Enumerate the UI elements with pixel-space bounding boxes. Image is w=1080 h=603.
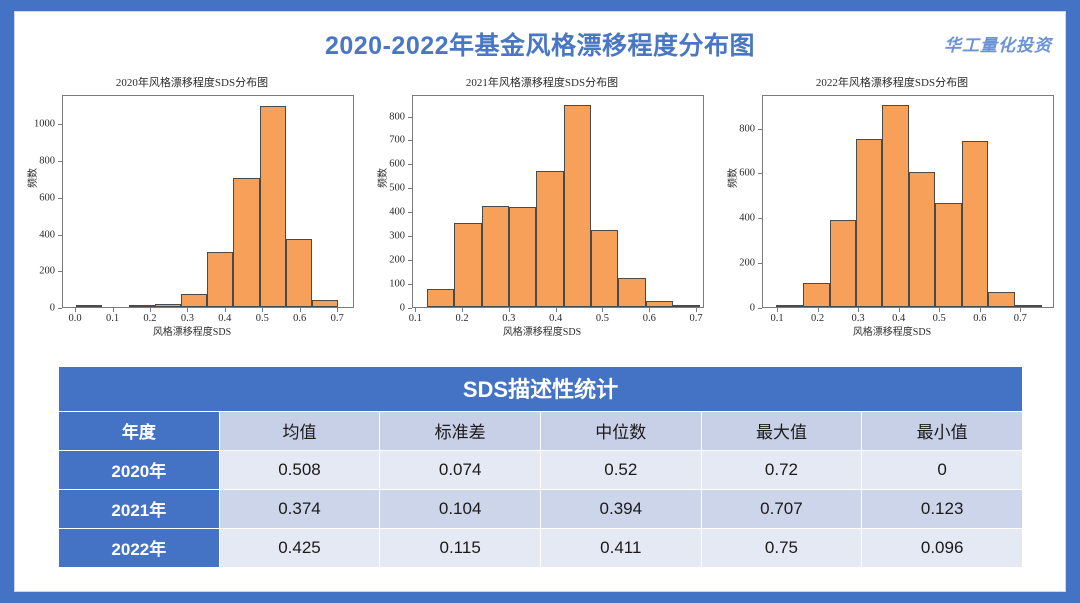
table-row: 2020年 0.508 0.074 0.52 0.72 0 — [59, 451, 1023, 490]
y-tick-label: 600 — [389, 159, 405, 170]
y-tick-mark — [58, 235, 62, 236]
y-tick-mark — [408, 188, 412, 189]
x-axis-label: 风格漂移程度SDS — [372, 323, 712, 338]
x-tick-mark — [187, 308, 188, 312]
y-tick-mark — [58, 308, 62, 309]
cell-year: 2020年 — [59, 451, 220, 490]
histogram-bar — [509, 207, 536, 307]
x-tick-mark — [150, 308, 151, 312]
y-tick-mark — [58, 161, 62, 162]
y-tick-label: 300 — [389, 231, 405, 242]
y-tick-label: 600 — [739, 168, 755, 179]
histogram-bar — [233, 178, 259, 307]
column-header-mean: 均值 — [219, 412, 380, 451]
histogram-bar — [76, 305, 102, 307]
y-axis-label: 频数 — [374, 168, 389, 188]
y-tick-mark — [758, 129, 762, 130]
cell-min: 0 — [862, 451, 1023, 490]
cell-mean: 0.374 — [219, 490, 380, 529]
y-tick-label: 0 — [50, 303, 55, 314]
y-tick-label: 200 — [389, 255, 405, 266]
histogram-bar — [988, 292, 1014, 307]
y-tick-label: 800 — [739, 123, 755, 134]
histogram-bar — [1015, 305, 1042, 307]
histogram-bars — [413, 96, 703, 307]
y-tick-label: 0 — [750, 303, 755, 314]
y-tick-label: 400 — [389, 207, 405, 218]
chart-panel-2022: 2022年风格漂移程度SDS分布图 频数 02004006008000.10.2… — [722, 70, 1062, 350]
table-header-row: 年度 均值 标准差 中位数 最大值 最小值 — [59, 412, 1023, 451]
histogram-bar — [260, 106, 286, 307]
x-tick-mark — [262, 308, 263, 312]
x-tick-mark — [556, 308, 557, 312]
histogram-bar — [564, 105, 591, 307]
cell-mean: 0.508 — [219, 451, 380, 490]
slide-border-left — [0, 0, 14, 603]
x-tick-mark — [509, 308, 510, 312]
chart-panel-2020: 2020年风格漂移程度SDS分布图 频数 020040060080010000.… — [22, 70, 362, 350]
histogram-bar — [181, 294, 207, 307]
y-tick-label: 200 — [739, 258, 755, 269]
page-title: 2020-2022年基金风格漂移程度分布图 — [0, 26, 1080, 62]
slide-border-right — [1066, 0, 1080, 603]
y-tick-label: 400 — [739, 213, 755, 224]
y-tick-mark — [408, 260, 412, 261]
x-tick-mark — [696, 308, 697, 312]
cell-std: 0.104 — [380, 490, 541, 529]
cell-year: 2021年 — [59, 490, 220, 529]
cell-min: 0.096 — [862, 529, 1023, 568]
column-header-min: 最小值 — [862, 412, 1023, 451]
y-tick-label: 1000 — [34, 119, 55, 130]
histogram-bar — [776, 305, 802, 307]
table-row: 2021年 0.374 0.104 0.394 0.707 0.123 — [59, 490, 1023, 529]
y-tick-label: 0 — [400, 303, 405, 314]
slide-border-top — [0, 0, 1080, 11]
chart-title: 2020年风格漂移程度SDS分布图 — [22, 74, 362, 90]
x-tick-mark — [777, 308, 778, 312]
x-tick-mark — [225, 308, 226, 312]
y-tick-label: 400 — [39, 229, 55, 240]
histogram-bar — [207, 252, 233, 307]
table-row: 2022年 0.425 0.115 0.411 0.75 0.096 — [59, 529, 1023, 568]
x-tick-mark — [899, 308, 900, 312]
histogram-bar — [312, 300, 338, 307]
chart-panel-2021: 2021年风格漂移程度SDS分布图 频数 0100200300400500600… — [372, 70, 712, 350]
plot-axes — [762, 95, 1054, 308]
stats-table: SDS描述性统计 年度 均值 标准差 中位数 最大值 最小值 2020年 0.5… — [58, 366, 1023, 568]
y-tick-mark — [408, 212, 412, 213]
x-tick-mark — [858, 308, 859, 312]
histogram-bar — [618, 278, 646, 307]
histogram-bar — [830, 220, 856, 307]
histogram-bar — [962, 141, 988, 307]
x-tick-mark — [939, 308, 940, 312]
histogram-bar — [129, 305, 155, 307]
chart-title: 2022年风格漂移程度SDS分布图 — [722, 74, 1062, 90]
x-axis-label: 风格漂移程度SDS — [722, 323, 1062, 338]
histogram-bar — [673, 305, 701, 307]
histogram-bar — [482, 206, 509, 307]
x-tick-mark — [113, 308, 114, 312]
y-tick-mark — [408, 140, 412, 141]
cell-median: 0.52 — [540, 451, 701, 490]
x-tick-mark — [300, 308, 301, 312]
y-axis-label: 频数 — [724, 168, 739, 188]
x-tick-mark — [818, 308, 819, 312]
plot-axes — [412, 95, 704, 308]
x-tick-mark — [415, 308, 416, 312]
cell-min: 0.123 — [862, 490, 1023, 529]
histogram-bar — [155, 304, 181, 307]
y-tick-label: 100 — [389, 279, 405, 290]
table-body: 2020年 0.508 0.074 0.52 0.72 0 2021年 0.37… — [59, 451, 1023, 568]
cell-max: 0.707 — [701, 490, 862, 529]
plot-area-wrapper: 频数 02004006008000.10.20.30.40.50.60.7 — [722, 92, 1062, 322]
x-tick-mark — [462, 308, 463, 312]
y-axis-label: 频数 — [24, 168, 39, 188]
histogram-bar — [909, 172, 935, 307]
y-tick-mark — [758, 263, 762, 264]
plot-area-wrapper: 频数 01002003004005006007008000.10.20.30.4… — [372, 92, 712, 322]
y-tick-label: 500 — [389, 183, 405, 194]
slide-border-bottom — [0, 592, 1080, 603]
cell-std: 0.074 — [380, 451, 541, 490]
column-header-max: 最大值 — [701, 412, 862, 451]
plot-area-wrapper: 频数 020040060080010000.00.10.20.30.40.50.… — [22, 92, 362, 322]
x-tick-mark — [75, 308, 76, 312]
y-tick-mark — [58, 271, 62, 272]
histogram-bar — [591, 230, 618, 307]
column-header-year: 年度 — [59, 412, 220, 451]
chart-title: 2021年风格漂移程度SDS分布图 — [372, 74, 712, 90]
plot-axes — [62, 95, 354, 308]
y-tick-mark — [758, 173, 762, 174]
y-tick-label: 800 — [389, 111, 405, 122]
histogram-bar — [882, 105, 909, 307]
y-tick-mark — [408, 117, 412, 118]
y-tick-mark — [408, 284, 412, 285]
x-tick-mark — [602, 308, 603, 312]
cell-max: 0.75 — [701, 529, 862, 568]
histogram-bar — [856, 139, 882, 307]
histogram-bar — [427, 289, 454, 307]
y-tick-mark — [408, 308, 412, 309]
x-tick-mark — [1020, 308, 1021, 312]
y-tick-label: 200 — [39, 266, 55, 277]
column-header-median: 中位数 — [540, 412, 701, 451]
table-title-row: SDS描述性统计 — [59, 367, 1023, 412]
brand-watermark: 华工量化投资 — [944, 31, 1052, 56]
histogram-bar — [536, 171, 564, 307]
y-tick-mark — [758, 308, 762, 309]
y-tick-mark — [408, 236, 412, 237]
histogram-bar — [646, 301, 673, 307]
y-tick-mark — [758, 218, 762, 219]
cell-max: 0.72 — [701, 451, 862, 490]
histogram-bar — [454, 223, 482, 307]
cell-median: 0.394 — [540, 490, 701, 529]
histogram-bar — [286, 239, 312, 307]
cell-mean: 0.425 — [219, 529, 380, 568]
y-tick-label: 600 — [39, 192, 55, 203]
cell-year: 2022年 — [59, 529, 220, 568]
y-tick-label: 700 — [389, 135, 405, 146]
slide-canvas: 2020-2022年基金风格漂移程度分布图 华工量化投资 2020年风格漂移程度… — [0, 0, 1080, 603]
y-tick-label: 800 — [39, 156, 55, 167]
histogram-bar — [803, 283, 830, 307]
y-tick-mark — [408, 164, 412, 165]
histogram-bars — [763, 96, 1053, 307]
x-axis-label: 风格漂移程度SDS — [22, 323, 362, 338]
cell-std: 0.115 — [380, 529, 541, 568]
charts-row: 2020年风格漂移程度SDS分布图 频数 020040060080010000.… — [22, 70, 1062, 350]
histogram-bars — [63, 96, 353, 307]
y-tick-mark — [58, 124, 62, 125]
table-title: SDS描述性统计 — [59, 367, 1023, 412]
column-header-std: 标准差 — [380, 412, 541, 451]
x-tick-mark — [980, 308, 981, 312]
x-tick-mark — [649, 308, 650, 312]
cell-median: 0.411 — [540, 529, 701, 568]
x-tick-mark — [337, 308, 338, 312]
histogram-bar — [935, 203, 962, 307]
y-tick-mark — [58, 198, 62, 199]
